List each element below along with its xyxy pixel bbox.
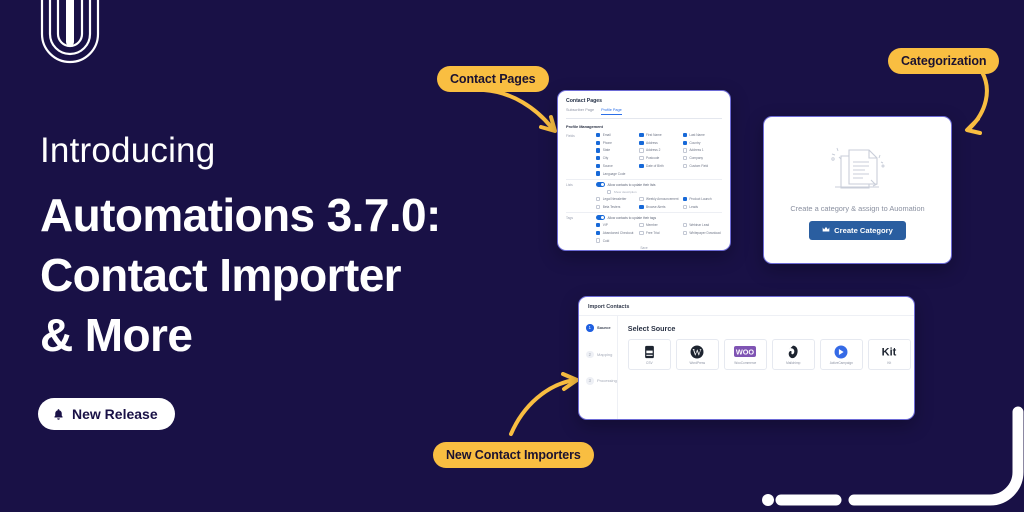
checkbox-item[interactable]: Company bbox=[683, 156, 722, 160]
checkbox-item[interactable]: State bbox=[596, 148, 635, 152]
lists-sub-label: Show description bbox=[614, 190, 637, 194]
checkbox-icon bbox=[596, 133, 600, 137]
checkbox-icon bbox=[596, 231, 600, 235]
source-label: CSV bbox=[646, 361, 653, 365]
checkbox-item[interactable]: Custom Field bbox=[683, 164, 722, 168]
tags-toggle-label: Allow contacts to update their tags bbox=[608, 216, 657, 220]
checkbox-icon bbox=[639, 164, 643, 168]
lists-toggle-label: Allow contacts to update their lists bbox=[608, 183, 656, 187]
csv-file-icon bbox=[643, 345, 656, 359]
tab-profile-page[interactable]: Profile Page bbox=[601, 108, 622, 115]
checkbox-label: Custom Field bbox=[689, 164, 708, 168]
source-tile-wordpress[interactable]: W WordPress bbox=[676, 339, 719, 370]
arrow-to-categorization bbox=[948, 70, 998, 136]
checkbox-label: Email bbox=[603, 133, 611, 137]
step-processing[interactable]: 3 Processing bbox=[586, 377, 617, 385]
checkbox-icon bbox=[596, 164, 600, 168]
crown-icon bbox=[822, 226, 830, 235]
checkbox-icon bbox=[683, 156, 687, 160]
import-contacts-header: Import Contacts bbox=[579, 297, 914, 316]
activecampaign-icon bbox=[834, 345, 848, 359]
source-tile-woocommerce[interactable]: WOO WooCommerce bbox=[724, 339, 767, 370]
checkbox-label: Address bbox=[646, 141, 658, 145]
checkbox-item[interactable]: Browse Alerts bbox=[639, 205, 678, 209]
arrow-to-contact-pages bbox=[478, 88, 568, 146]
headline-line-2: Contact Importer bbox=[40, 245, 510, 305]
checkbox-label: Postcode bbox=[646, 156, 659, 160]
step-label: Mapping bbox=[597, 352, 612, 357]
checkbox-item[interactable]: Country bbox=[683, 141, 722, 145]
new-release-badge[interactable]: New Release bbox=[38, 398, 175, 430]
checkbox-label: City bbox=[603, 156, 609, 160]
checkbox-item[interactable]: Weekly Announcement bbox=[639, 197, 678, 201]
source-tile-mailchimp[interactable]: Mailchimp bbox=[772, 339, 815, 370]
checkbox-icon bbox=[639, 205, 643, 209]
fields-checkbox-grid: Email First Name Last Name Phone Address… bbox=[596, 133, 722, 176]
checkbox-label: Last Name bbox=[689, 133, 704, 137]
source-label: Mailchimp bbox=[786, 361, 800, 365]
tags-row: Tags Allow contacts to update their tags… bbox=[566, 215, 722, 242]
hero-eyebrow: Introducing bbox=[40, 132, 510, 171]
checkbox-label: Browse Alerts bbox=[646, 205, 666, 209]
checkbox-label: Address 2 bbox=[646, 148, 660, 152]
svg-text:WOO: WOO bbox=[736, 347, 755, 356]
tab-subscriber-page[interactable]: Subscriber Page bbox=[566, 108, 594, 115]
create-category-message: Create a category & assign to Auomation bbox=[790, 204, 924, 213]
svg-text:W: W bbox=[693, 347, 703, 358]
checkbox-label: Weekly Announcement bbox=[646, 197, 679, 201]
lists-row-label: Lists bbox=[566, 182, 596, 209]
wordpress-icon: W bbox=[690, 345, 704, 359]
checkbox-icon bbox=[596, 223, 600, 227]
headline-line-1: Automations 3.7.0: bbox=[40, 185, 510, 245]
checkbox-item[interactable]: Cold bbox=[596, 238, 635, 242]
source-label: WordPress bbox=[689, 361, 705, 365]
checkbox-item[interactable]: Address bbox=[639, 141, 678, 145]
release-banner: Introducing Automations 3.7.0: Contact I… bbox=[0, 0, 1024, 512]
checkbox-icon bbox=[683, 141, 687, 145]
checkbox-label: Whitepaper Download bbox=[689, 231, 720, 235]
step-label: Source bbox=[597, 325, 611, 330]
checkbox-icon bbox=[596, 197, 600, 201]
checkbox-item[interactable]: Webinar Lead bbox=[683, 223, 722, 227]
step-mapping[interactable]: 2 Mapping bbox=[586, 351, 617, 359]
source-label: ActiveCampaign bbox=[830, 361, 853, 365]
checkbox-icon bbox=[639, 231, 643, 235]
checkbox-icon bbox=[683, 197, 687, 201]
lists-checkbox-grid: Legal Newsletter Weekly Announcement Pro… bbox=[596, 197, 722, 209]
fields-row: Fields Email First Name Last Name Phone … bbox=[566, 133, 722, 176]
checkbox-icon bbox=[596, 141, 600, 145]
checkbox-item[interactable]: Language Code bbox=[596, 171, 635, 175]
kit-icon: Kit bbox=[878, 345, 900, 359]
checkbox-icon bbox=[596, 171, 600, 175]
tags-checkbox-grid: VIP Member Webinar Lead Abandoned Checko… bbox=[596, 223, 722, 243]
checkbox-item[interactable]: VIP bbox=[596, 223, 635, 227]
checkbox-label: Address 1 bbox=[689, 148, 703, 152]
source-tile-activecampaign[interactable]: ActiveCampaign bbox=[820, 339, 863, 370]
create-category-button-label: Create Category bbox=[834, 226, 893, 235]
checkbox-icon bbox=[596, 238, 600, 242]
step-source[interactable]: 1 Source bbox=[586, 324, 617, 332]
source-label: Kit bbox=[887, 361, 891, 365]
checkbox-item[interactable]: Legal Newsletter bbox=[596, 197, 635, 201]
checkbox-item[interactable]: Phone bbox=[596, 141, 635, 145]
checkbox-item[interactable]: Abandoned Checkout bbox=[596, 231, 635, 235]
checkbox-label: VIP bbox=[603, 223, 608, 227]
source-label: WooCommerce bbox=[734, 361, 756, 365]
step-label: Processing bbox=[597, 378, 617, 383]
checkbox-label: Abandoned Checkout bbox=[603, 231, 634, 235]
checkbox-item[interactable]: Address 1 bbox=[683, 148, 722, 152]
divider bbox=[566, 212, 722, 213]
create-category-button[interactable]: Create Category bbox=[809, 221, 906, 240]
create-category-card: Create a category & assign to Auomation … bbox=[763, 116, 952, 264]
step-number: 1 bbox=[586, 324, 594, 332]
save-button[interactable]: Save bbox=[566, 246, 722, 250]
svg-text:Kit: Kit bbox=[882, 347, 897, 358]
checkbox-item[interactable]: Product Launch bbox=[683, 197, 722, 201]
divider bbox=[566, 179, 722, 180]
tags-toggle-row[interactable]: Allow contacts to update their tags bbox=[596, 215, 722, 220]
checkbox-item[interactable]: Beta Testers bbox=[596, 205, 635, 209]
checkbox-icon bbox=[639, 148, 643, 152]
checkbox-icon bbox=[639, 223, 643, 227]
checkbox-label: Phone bbox=[603, 141, 612, 145]
checkbox-label: Product Launch bbox=[689, 197, 711, 201]
nested-u-logo bbox=[38, 0, 102, 96]
checkbox-icon bbox=[683, 133, 687, 137]
callout-new-importers[interactable]: New Contact Importers bbox=[433, 442, 594, 468]
checkbox-icon bbox=[683, 148, 687, 152]
checkbox-item[interactable]: Postcode bbox=[639, 156, 678, 160]
contact-pages-screenshot: Contact Pages Subscriber Page Profile Pa… bbox=[557, 90, 731, 251]
checkbox-icon bbox=[639, 141, 643, 145]
checkbox-item[interactable]: Email bbox=[596, 133, 635, 137]
checkbox-item[interactable]: Source bbox=[596, 164, 635, 168]
checkbox-icon bbox=[596, 156, 600, 160]
lists-toggle-row[interactable]: Allow contacts to update their lists bbox=[596, 182, 722, 187]
checkbox-icon bbox=[683, 205, 687, 209]
checkbox-label: Country bbox=[689, 141, 700, 145]
checkbox-label: Member bbox=[646, 223, 658, 227]
checkbox-label: Language Code bbox=[603, 172, 626, 176]
checkbox-label: Date of Birth bbox=[646, 164, 664, 168]
checkbox-icon bbox=[639, 197, 643, 201]
checkbox-icon bbox=[639, 133, 643, 137]
hero-copy: Introducing Automations 3.7.0: Contact I… bbox=[40, 132, 510, 365]
checkbox-label: Beta Testers bbox=[603, 205, 621, 209]
checkbox-icon bbox=[607, 190, 611, 194]
checkbox-label: Webinar Lead bbox=[689, 223, 709, 227]
checkbox-icon bbox=[596, 205, 600, 209]
arrow-to-new-importers bbox=[505, 372, 585, 438]
source-tile-csv[interactable]: CSV bbox=[628, 339, 671, 370]
checkbox-icon bbox=[596, 148, 600, 152]
lists-sub-option[interactable]: Show description bbox=[607, 190, 722, 194]
checkbox-icon bbox=[639, 156, 643, 160]
step-number: 2 bbox=[586, 351, 594, 359]
lists-row: Lists Allow contacts to update their lis… bbox=[566, 182, 722, 209]
checkbox-item[interactable]: Date of Birth bbox=[639, 164, 678, 168]
checkbox-item[interactable]: Free Trial bbox=[639, 231, 678, 235]
source-tile-kit[interactable]: Kit Kit bbox=[868, 339, 911, 370]
hero-headline: Automations 3.7.0: Contact Importer & Mo… bbox=[40, 185, 510, 366]
checkbox-item[interactable]: First Name bbox=[639, 133, 678, 137]
checkbox-item[interactable]: Leads bbox=[683, 205, 722, 209]
new-release-label: New Release bbox=[72, 406, 158, 422]
checkbox-label: Cold bbox=[603, 239, 610, 243]
tags-row-label: Tags bbox=[566, 215, 596, 242]
profile-management-heading: Profile Management bbox=[566, 124, 722, 129]
step-number: 3 bbox=[586, 377, 594, 385]
bell-icon bbox=[52, 408, 65, 421]
woocommerce-icon: WOO bbox=[734, 345, 756, 359]
contact-pages-title: Contact Pages bbox=[566, 98, 722, 104]
checkbox-item[interactable]: Address 2 bbox=[639, 148, 678, 152]
checkbox-label: First Name bbox=[646, 133, 662, 137]
checkbox-label: Free Trial bbox=[646, 231, 659, 235]
checkbox-label: Source bbox=[603, 164, 613, 168]
select-source-title: Select Source bbox=[628, 324, 911, 333]
contact-pages-tabs: Subscriber Page Profile Page bbox=[566, 108, 722, 119]
checkbox-label: Legal Newsletter bbox=[603, 197, 627, 201]
checkbox-icon bbox=[683, 164, 687, 168]
documents-illustration-icon bbox=[815, 140, 901, 196]
toggle-switch-icon[interactable] bbox=[596, 182, 605, 187]
checkbox-icon bbox=[683, 223, 687, 227]
checkbox-item[interactable]: Member bbox=[639, 223, 678, 227]
headline-line-3: & More bbox=[40, 305, 510, 365]
checkbox-item[interactable]: City bbox=[596, 156, 635, 160]
toggle-switch-icon[interactable] bbox=[596, 215, 605, 220]
checkbox-label: State bbox=[603, 148, 610, 152]
fields-row-label: Fields bbox=[566, 133, 596, 176]
source-tiles: CSV W WordPress WOO WooCommerce bbox=[628, 339, 911, 370]
checkbox-item[interactable]: Whitepaper Download bbox=[683, 231, 722, 235]
checkbox-label: Company bbox=[689, 156, 703, 160]
mailchimp-icon bbox=[787, 345, 799, 359]
checkbox-icon bbox=[683, 231, 687, 235]
import-steps: 1 Source 2 Mapping 3 Processing bbox=[579, 316, 618, 419]
checkbox-label: Leads bbox=[689, 205, 698, 209]
import-contacts-card: Import Contacts 1 Source 2 Mapping 3 Pro… bbox=[578, 296, 915, 420]
checkbox-item[interactable]: Last Name bbox=[683, 133, 722, 137]
